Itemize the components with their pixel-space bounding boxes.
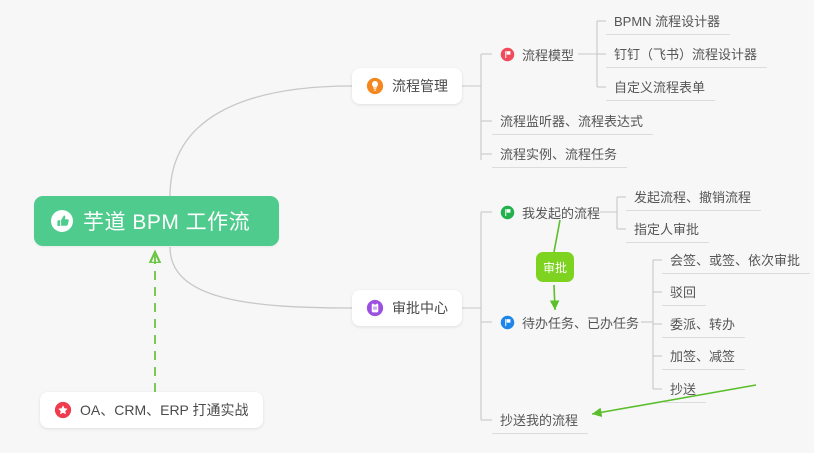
node-delegate-transfer[interactable]: 委派、转办 [662, 310, 745, 338]
star-icon [54, 401, 72, 419]
approval-tag-label: 审批 [543, 259, 567, 276]
arrow-approval-tag-to-todo [554, 285, 555, 310]
edge-root-to-process-management [170, 86, 352, 196]
node-approval-center[interactable]: 审批中心 [352, 290, 462, 326]
node-start-cancel-process-label: 发起流程、撤销流程 [634, 187, 751, 206]
node-add-remove-sign[interactable]: 加签、减签 [662, 342, 745, 370]
node-dingtalk-feishu-designer[interactable]: 钉钉（飞书）流程设计器 [606, 40, 767, 68]
flag-icon [500, 315, 515, 330]
node-cc-my-process[interactable]: 抄送我的流程 [492, 406, 588, 434]
root-node-label: 芋道 BPM 工作流 [83, 206, 250, 236]
clipboard-icon [366, 299, 384, 317]
node-process-model-label: 流程模型 [522, 45, 574, 64]
node-bpmn-designer[interactable]: BPMN 流程设计器 [606, 7, 730, 35]
node-reject[interactable]: 驳回 [662, 278, 706, 306]
node-my-started-processes[interactable]: 我发起的流程 [492, 198, 610, 226]
lightbulb-icon [366, 77, 384, 95]
flag-icon [500, 47, 515, 62]
node-assignee-approval-label: 指定人审批 [634, 219, 699, 238]
node-approval-center-label: 审批中心 [392, 298, 448, 318]
node-countersign-orsign-sequential[interactable]: 会签、或签、依次审批 [662, 246, 810, 274]
node-add-remove-sign-label: 加签、减签 [670, 346, 735, 365]
node-dingtalk-feishu-designer-label: 钉钉（飞书）流程设计器 [614, 44, 757, 63]
node-custom-process-form[interactable]: 自定义流程表单 [606, 73, 715, 101]
node-custom-process-form-label: 自定义流程表单 [614, 77, 705, 96]
node-process-instance-task-label: 流程实例、流程任务 [500, 144, 617, 163]
node-todo-done-tasks[interactable]: 待办任务、已办任务 [492, 308, 649, 336]
root-node[interactable]: 芋道 BPM 工作流 [34, 196, 279, 246]
node-process-management[interactable]: 流程管理 [352, 68, 462, 104]
node-countersign-orsign-sequential-label: 会签、或签、依次审批 [670, 250, 800, 269]
node-process-management-label: 流程管理 [392, 76, 448, 96]
node-reject-label: 驳回 [670, 282, 696, 301]
node-cc[interactable]: 抄送 [662, 375, 706, 403]
edge-root-to-approval-center [170, 247, 352, 308]
node-my-started-processes-label: 我发起的流程 [522, 203, 600, 222]
node-integration-note[interactable]: OA、CRM、ERP 打通实战 [40, 392, 263, 428]
node-assignee-approval[interactable]: 指定人审批 [626, 215, 709, 243]
node-process-instance-task[interactable]: 流程实例、流程任务 [492, 140, 627, 168]
node-cc-label: 抄送 [670, 379, 696, 398]
node-integration-note-label: OA、CRM、ERP 打通实战 [80, 400, 249, 420]
approval-tag[interactable]: 审批 [536, 252, 574, 282]
mindmap-canvas: 芋道 BPM 工作流 流程管理 流程模型 BPMN 流程设计器 钉钉（飞书）流程 [0, 0, 814, 453]
node-start-cancel-process[interactable]: 发起流程、撤销流程 [626, 183, 761, 211]
node-bpmn-designer-label: BPMN 流程设计器 [614, 11, 720, 30]
node-delegate-transfer-label: 委派、转办 [670, 314, 735, 333]
flag-icon [500, 205, 515, 220]
node-cc-my-process-label: 抄送我的流程 [500, 410, 578, 429]
node-process-listener-expression-label: 流程监听器、流程表达式 [500, 111, 643, 130]
node-process-listener-expression[interactable]: 流程监听器、流程表达式 [492, 107, 653, 135]
node-process-model[interactable]: 流程模型 [492, 40, 584, 68]
thumbs-up-icon [50, 209, 74, 233]
node-todo-done-tasks-label: 待办任务、已办任务 [522, 313, 639, 332]
